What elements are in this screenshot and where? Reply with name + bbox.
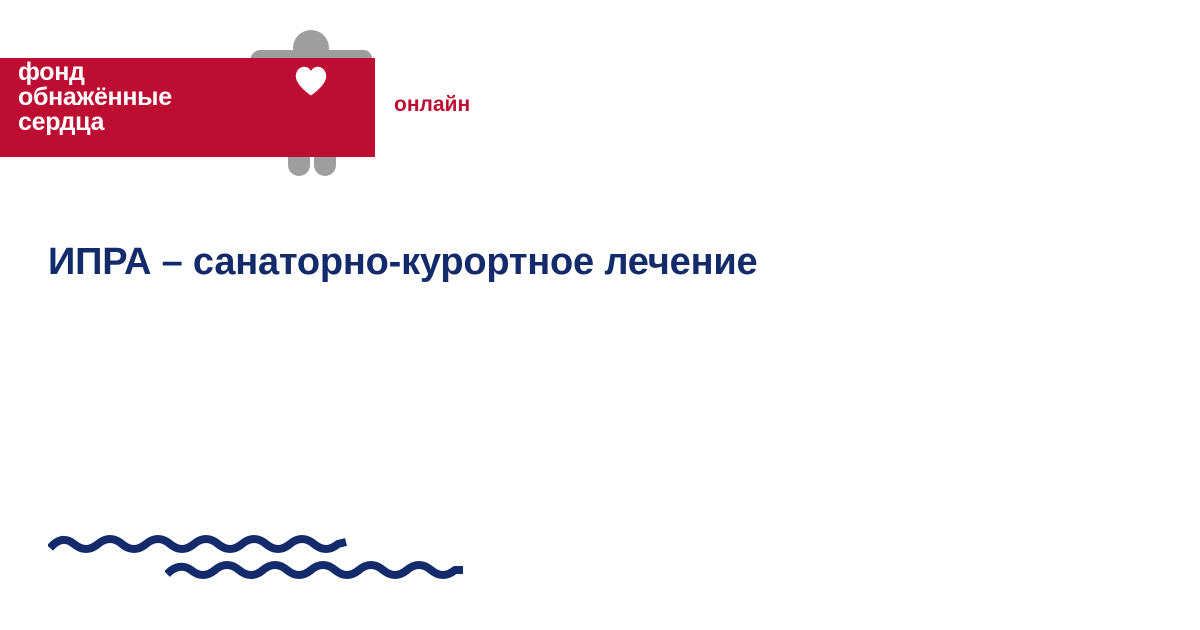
- slide-canvas: фонд обнажённые сердца онлайн ИПРА – сан…: [0, 0, 1200, 630]
- wavy-line-upper: [48, 530, 348, 556]
- logo-wordmark-line-1: фонд: [18, 60, 172, 85]
- heart-icon: [295, 66, 327, 96]
- logo-wordmark: фонд обнажённые сердца: [18, 60, 172, 135]
- page-title: ИПРА – санаторно-курортное лечение: [48, 239, 1148, 285]
- foundation-logo: фонд обнажённые сердца онлайн: [0, 0, 500, 200]
- logo-wordmark-line-3: сердца: [18, 110, 172, 135]
- wavy-line-lower: [165, 558, 465, 584]
- logo-online-label: онлайн: [394, 93, 470, 117]
- logo-wordmark-line-2: обнажённые: [18, 85, 172, 110]
